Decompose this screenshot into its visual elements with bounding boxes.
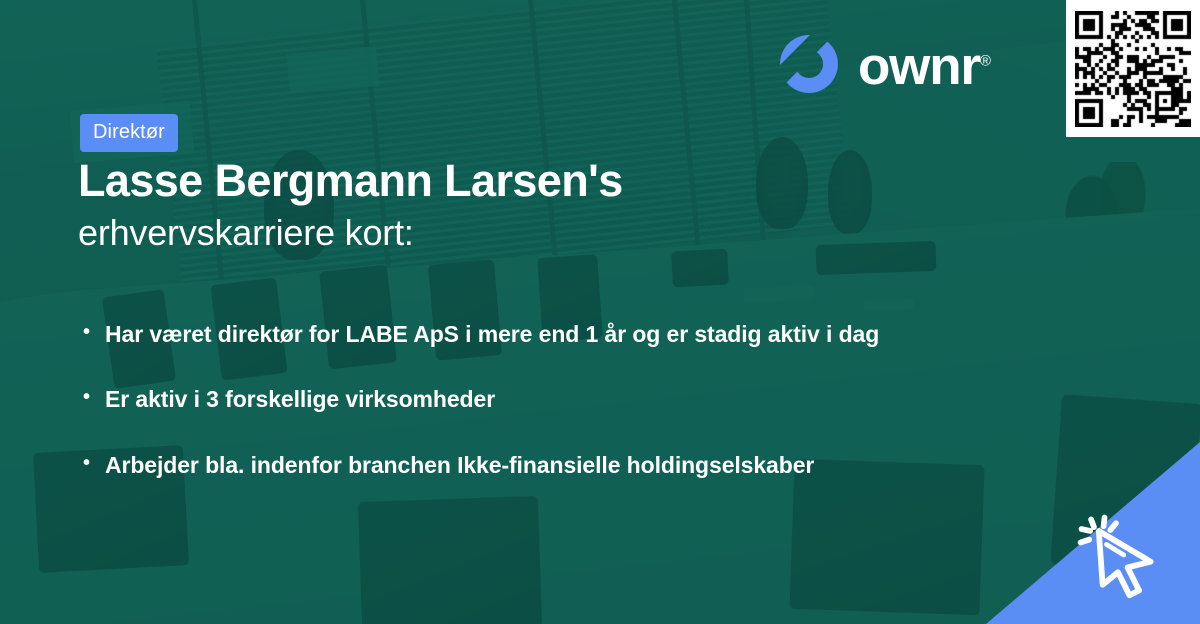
business-profile-card: Direktør Lasse Bergmann Larsen's erhverv… [0, 0, 1200, 624]
click-cursor-icon [1070, 506, 1166, 602]
qr-code-icon[interactable] [1075, 11, 1191, 127]
page-title: Lasse Bergmann Larsen's [78, 155, 623, 207]
qr-code-container[interactable] [1066, 0, 1200, 137]
page-subtitle: erhvervskarriere kort: [78, 212, 414, 254]
list-item: Har været direktør for LABE ApS i mere e… [80, 316, 960, 353]
career-summary-list: Har været direktør for LABE ApS i mere e… [80, 316, 960, 512]
list-item: Arbejder bla. indenfor branchen Ikke-fin… [80, 447, 960, 484]
ownr-wordmark: ownr® [858, 40, 991, 93]
ownr-circle-logo-icon [778, 33, 840, 95]
ownr-logo: ownr® [778, 33, 991, 95]
corner-triangle [986, 442, 1200, 624]
ownr-wordmark-text: ownr [858, 37, 980, 96]
registered-mark-icon: ® [980, 52, 991, 69]
corner-decoration [986, 442, 1200, 624]
list-item: Er aktiv i 3 forskellige virksomheder [80, 381, 960, 418]
role-badge: Direktør [80, 114, 178, 152]
